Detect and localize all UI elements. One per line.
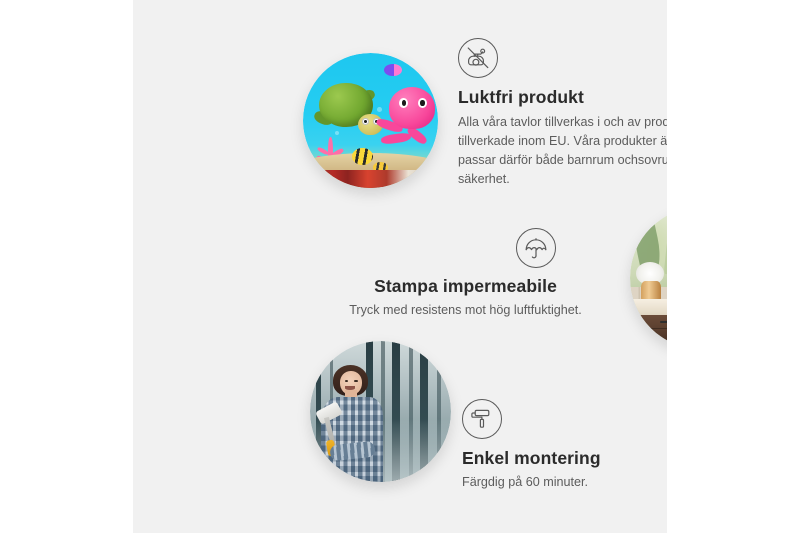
photo-sea-inner bbox=[303, 53, 438, 188]
vanity-cabinet bbox=[639, 315, 667, 349]
feature-easy-mounting: Enkel montering Färgdig på 60 minuter. bbox=[462, 399, 667, 492]
feature-body: Tryck med resistens mot hög luftfuktighe… bbox=[333, 301, 598, 320]
bubble-icon bbox=[377, 107, 382, 112]
photo-forest-inner bbox=[310, 341, 451, 482]
product-photo-bathroom[interactable] bbox=[630, 207, 667, 349]
octopus-head bbox=[389, 87, 435, 129]
fish-striped-icon bbox=[352, 148, 374, 166]
feature-title: Luktfri produkt bbox=[458, 87, 667, 109]
woman-smile bbox=[345, 386, 355, 390]
no-odor-spray-bottle-icon bbox=[458, 38, 498, 78]
sea-bottom-strip bbox=[303, 170, 438, 188]
turtle-eye bbox=[362, 118, 369, 125]
feature-body: Färgdig på 60 minuter. bbox=[462, 473, 667, 492]
drawer-handle bbox=[660, 321, 667, 323]
feature-body: Alla våra tavlor tillverkas i och av pro… bbox=[458, 113, 667, 189]
product-photo-sea[interactable] bbox=[303, 53, 438, 188]
product-photo-forest[interactable] bbox=[310, 341, 451, 482]
feature-panel: Luktfri produkt Alla våra tavlor tillver… bbox=[133, 0, 667, 533]
promo-page: Luktfri produkt Alla våra tavlor tillver… bbox=[0, 0, 800, 533]
feature-waterproof: Stampa impermeabile Tryck med resistens … bbox=[333, 228, 598, 320]
drawer-divider bbox=[644, 328, 667, 329]
feature-title: Enkel montering bbox=[462, 448, 667, 470]
fish-purple-icon bbox=[384, 64, 402, 76]
feature-title: Stampa impermeabile bbox=[333, 276, 598, 298]
umbrella-icon bbox=[516, 228, 556, 268]
feature-odorless: Luktfri produkt Alla våra tavlor tillver… bbox=[458, 38, 667, 188]
photo-bathroom-inner bbox=[630, 207, 667, 349]
paint-roller-icon bbox=[462, 399, 502, 439]
